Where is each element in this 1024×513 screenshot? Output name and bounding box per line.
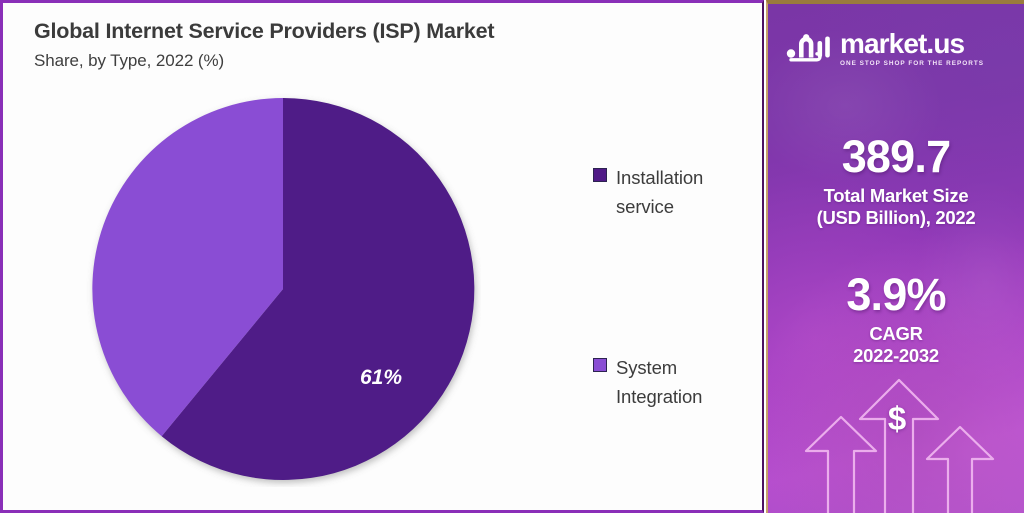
stat-value-cagr: 3.9% — [768, 272, 1024, 319]
brand-name: market.us — [840, 30, 984, 58]
brand-logo[interactable]: market.us ONE STOP SHOP FOR THE REPORTS — [786, 30, 984, 67]
stat-caption-line1: CAGR — [869, 323, 922, 344]
arrow-up-left-icon — [806, 417, 876, 513]
legend-label-line2: Integration — [616, 386, 702, 407]
stat-total-market-size: 389.7 Total Market Size (USD Billion), 2… — [768, 134, 1024, 229]
brand-logo-text: market.us ONE STOP SHOP FOR THE REPORTS — [840, 30, 984, 67]
legend-item-installation-service[interactable]: Installation service — [593, 163, 703, 221]
stat-caption-line1: Total Market Size — [824, 185, 969, 206]
legend-label-installation-service: Installation service — [616, 163, 703, 221]
legend-label-system-integration: System Integration — [616, 353, 702, 411]
isp-market-infographic: Global Internet Service Providers (ISP) … — [0, 0, 1024, 513]
chart-panel: Global Internet Service Providers (ISP) … — [0, 0, 764, 513]
legend-swatch-icon-installation-service — [593, 168, 607, 182]
stat-caption-line2: (USD Billion), 2022 — [768, 207, 1024, 229]
legend-label-line1: System — [616, 357, 677, 378]
pie-chart: 61% — [85, 91, 481, 487]
page-subtitle: Share, by Type, 2022 (%) — [34, 51, 694, 71]
pie-chart-svg: 61% — [85, 91, 481, 487]
stat-caption-market-size: Total Market Size (USD Billion), 2022 — [768, 185, 1024, 229]
legend-label-line1: Installation — [616, 167, 703, 188]
stat-caption-line2: 2022-2032 — [768, 345, 1024, 367]
legend-item-system-integration[interactable]: System Integration — [593, 353, 702, 411]
growth-arrows — [768, 373, 1024, 513]
stat-value-market-size: 389.7 — [768, 134, 1024, 181]
legend-swatch-icon-system-integration — [593, 358, 607, 372]
pie-slice-label-installation-service: 61% — [360, 366, 402, 389]
growth-arrows-svg — [768, 373, 1024, 513]
legend-label-line2: service — [616, 196, 674, 217]
brand-panel: market.us ONE STOP SHOP FOR THE REPORTS … — [766, 0, 1024, 513]
market-us-logo-icon — [786, 32, 832, 66]
page-title: Global Internet Service Providers (ISP) … — [34, 19, 694, 44]
chart-header: Global Internet Service Providers (ISP) … — [34, 19, 694, 70]
arrow-up-right-icon — [927, 427, 993, 513]
chart-canvas: Global Internet Service Providers (ISP) … — [3, 3, 762, 510]
stat-cagr: 3.9% CAGR 2022-2032 — [768, 272, 1024, 367]
brand-tagline: ONE STOP SHOP FOR THE REPORTS — [840, 61, 984, 67]
stat-caption-cagr: CAGR 2022-2032 — [768, 323, 1024, 367]
